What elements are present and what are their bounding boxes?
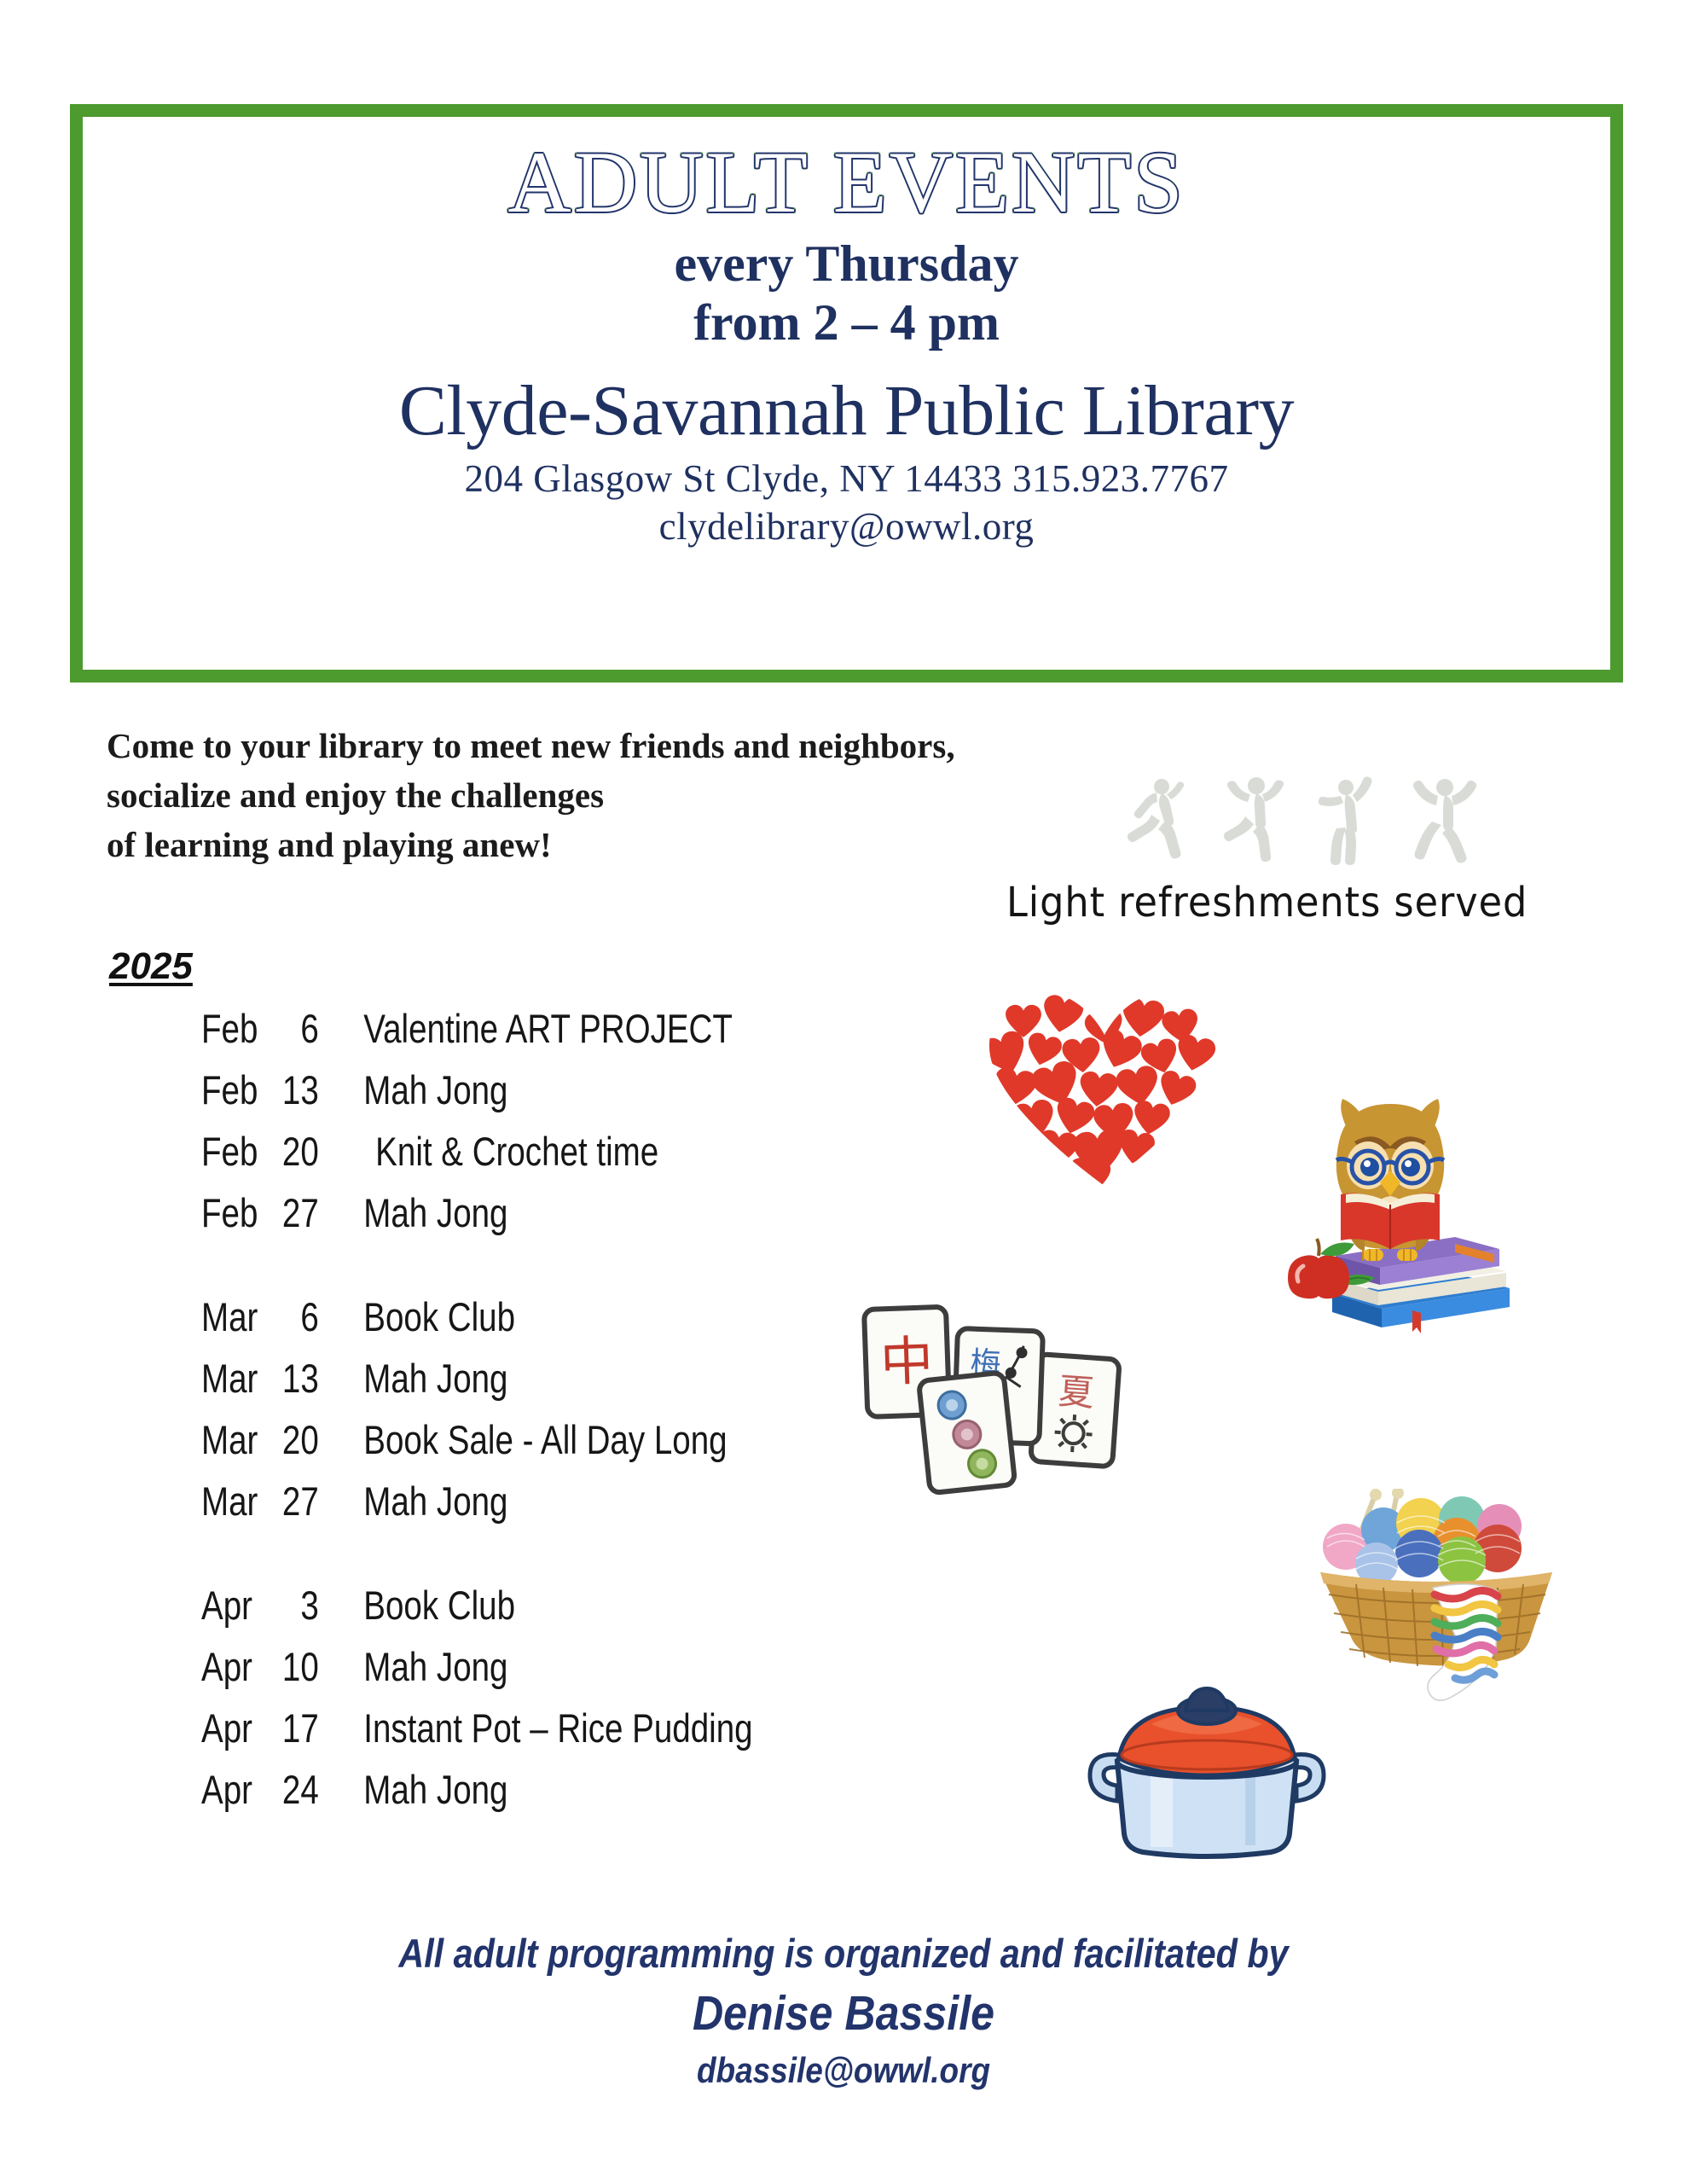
event-date: Feb13	[201, 1066, 363, 1113]
intro-line-2: socialize and enjoy the challenges	[107, 770, 1113, 820]
header-frame: ADULT EVENTS every Thursday from 2 – 4 p…	[70, 104, 1623, 682]
event-name: Valentine ART PROJECT	[363, 1005, 901, 1052]
event-row: Apr24 Mah Jong	[201, 1766, 901, 1827]
month-group-feb: Feb6 Valentine ART PROJECT Feb13 Mah Jon…	[201, 1005, 1054, 1251]
page-title: ADULT EVENTS	[83, 139, 1610, 227]
event-date: Apr10	[201, 1643, 363, 1690]
event-name: Mah Jong	[363, 1643, 901, 1690]
year-label: 2025	[109, 945, 193, 988]
event-date: Mar20	[201, 1416, 363, 1463]
event-row: Feb20 Knit & Crochet time	[201, 1128, 901, 1189]
event-row: Mar13 Mah Jong	[201, 1355, 901, 1416]
event-row: Apr10 Mah Jong	[201, 1643, 901, 1705]
library-email[interactable]: clydelibrary@owwl.org	[83, 504, 1610, 549]
event-date: Apr3	[201, 1582, 363, 1629]
mahjong-tiles-icon: 中 夏 梅	[849, 1292, 1130, 1540]
schedule-time-line: from 2 – 4 pm	[83, 294, 1610, 351]
intro-line-1: Come to your library to meet new friends…	[107, 721, 1113, 770]
cooking-pot-icon	[1066, 1676, 1348, 1864]
event-row: Mar27 Mah Jong	[201, 1478, 901, 1539]
header-content: ADULT EVENTS every Thursday from 2 – 4 p…	[83, 117, 1610, 549]
library-address: 204 Glasgow St Clyde, NY 14433 315.923.7…	[83, 456, 1610, 501]
footer-organizer-name: Denise Bassile	[101, 1985, 1586, 2042]
event-date: Feb27	[201, 1189, 363, 1236]
event-date: Feb6	[201, 1005, 363, 1052]
event-date: Apr17	[201, 1705, 363, 1751]
event-name: Mah Jong	[363, 1189, 901, 1236]
library-name: Clyde-Savannah Public Library	[83, 374, 1610, 449]
event-row: Mar6 Book Club	[201, 1293, 901, 1355]
event-name: Mah Jong	[363, 1766, 901, 1813]
event-name: Book Sale - All Day Long	[363, 1416, 901, 1463]
event-row: Apr17 Instant Pot – Rice Pudding	[201, 1705, 901, 1766]
event-name: Mah Jong	[363, 1066, 901, 1113]
footer-credit-line: All adult programming is organized and f…	[101, 1930, 1586, 1977]
event-date: Mar13	[201, 1355, 363, 1402]
footer-organizer-email[interactable]: dbassile@owwl.org	[101, 2050, 1586, 2091]
event-name: Instant Pot – Rice Pudding	[363, 1705, 901, 1751]
schedule-day-line: every Thursday	[83, 235, 1610, 293]
event-name: Knit & Crochet time	[363, 1128, 901, 1175]
intro-paragraph: Come to your library to meet new friends…	[107, 721, 1113, 870]
dancing-figures-icon	[1109, 772, 1535, 866]
event-row: Feb6 Valentine ART PROJECT	[201, 1005, 901, 1066]
event-row: Feb13 Mah Jong	[201, 1066, 901, 1128]
hearts-heart-icon	[981, 985, 1228, 1190]
event-date: Mar6	[201, 1293, 363, 1340]
footer: All adult programming is organized and f…	[0, 1930, 1687, 2091]
event-date: Feb20	[201, 1128, 363, 1175]
owl-reading-icon	[1254, 1066, 1527, 1339]
month-group-apr: Apr3 Book Club Apr10 Mah Jong Apr17 Inst…	[201, 1582, 1054, 1827]
event-name: Book Club	[363, 1582, 901, 1629]
event-date: Mar27	[201, 1478, 363, 1525]
yarn-basket-icon	[1305, 1489, 1569, 1702]
event-name: Mah Jong	[363, 1478, 901, 1525]
intro-line-3: of learning and playing anew!	[107, 820, 1113, 869]
svg-text:夏: 夏	[1057, 1370, 1095, 1414]
event-row: Mar20 Book Sale - All Day Long	[201, 1416, 901, 1478]
event-row: Feb27 Mah Jong	[201, 1189, 901, 1251]
event-name: Mah Jong	[363, 1355, 901, 1402]
event-name: Book Club	[363, 1293, 901, 1340]
refreshments-note: Light refreshments served	[1006, 879, 1633, 926]
event-row: Apr3 Book Club	[201, 1582, 901, 1643]
event-date: Apr24	[201, 1766, 363, 1813]
